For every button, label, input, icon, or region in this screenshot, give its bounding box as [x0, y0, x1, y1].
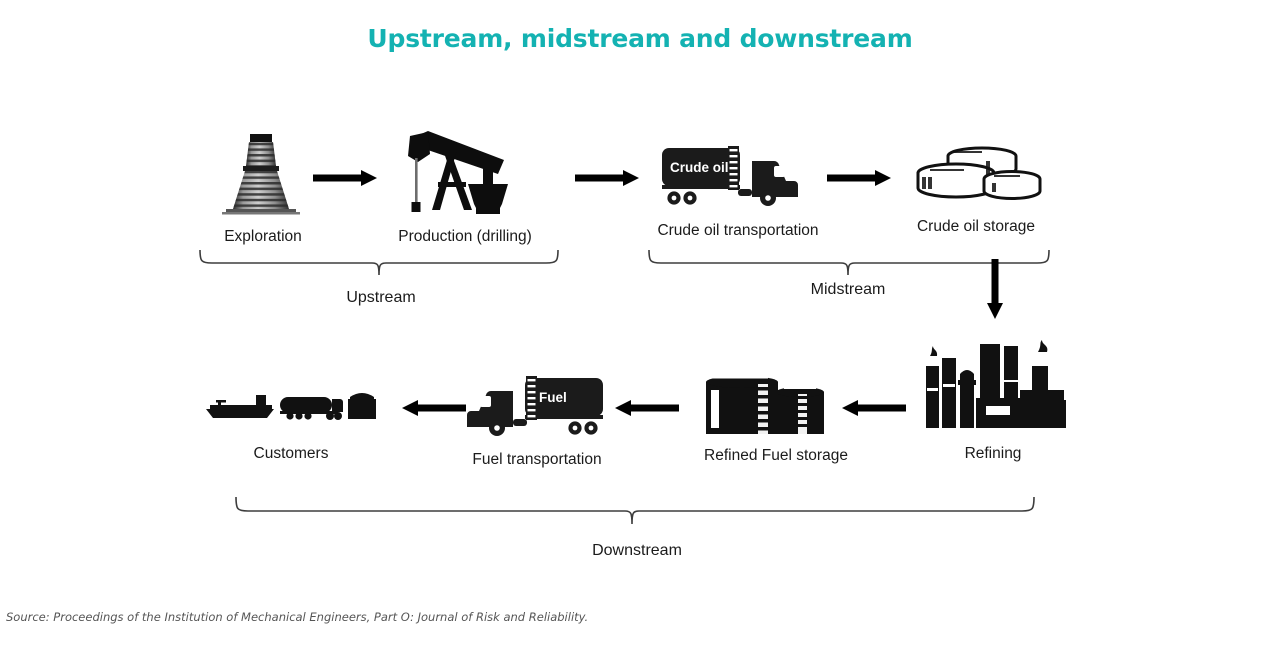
- flow-arrow-crude-transport-to-storage: [827, 167, 891, 189]
- flow-arrow-storage-to-refining: [983, 259, 1007, 319]
- flow-arrow-exploration-to-production: [313, 167, 377, 189]
- node-label-crude-storage: Crude oil storage: [896, 218, 1056, 236]
- tank-text-crude-oil: Crude oil: [670, 160, 729, 175]
- flow-arrow-refining-to-fuel-storage: [842, 397, 906, 419]
- pumpjack-icon: [398, 126, 516, 220]
- node-label-customers: Customers: [213, 445, 369, 463]
- crude-oil-storage-tanks-icon: [908, 143, 1044, 211]
- node-label-fuel-storage: Refined Fuel storage: [686, 447, 866, 465]
- stage-label-downstream: Downstream: [554, 542, 720, 560]
- node-label-production: Production (drilling): [373, 228, 557, 246]
- diagram-canvas: Upstream, midstream and downstream: [0, 0, 1280, 654]
- bracket-downstream: [232, 495, 1038, 535]
- flow-arrow-fuel-storage-to-fuel-transport: [615, 397, 679, 419]
- fuel-tanker-truck-icon: Fuel: [467, 371, 607, 444]
- oil-derrick-icon: [214, 126, 312, 220]
- flow-arrow-production-to-crude-transport: [575, 167, 639, 189]
- customers-ship-truck-tank-icon: [202, 381, 384, 425]
- node-label-refining: Refining: [913, 445, 1073, 463]
- stage-label-upstream: Upstream: [301, 289, 461, 307]
- refinery-icon: [918, 340, 1068, 438]
- stage-label-midstream: Midstream: [768, 281, 928, 299]
- page-title: Upstream, midstream and downstream: [0, 24, 1280, 53]
- node-label-crude-transport: Crude oil transportation: [638, 222, 838, 240]
- crude-oil-tanker-truck-icon: Crude oil: [658, 141, 798, 214]
- node-label-fuel-transport: Fuel transportation: [452, 451, 622, 469]
- node-label-exploration: Exploration: [181, 228, 345, 246]
- source-caption: Source: Proceedings of the Institution o…: [6, 610, 588, 624]
- refined-fuel-storage-tanks-icon: [700, 368, 832, 438]
- bracket-upstream: [196, 248, 562, 286]
- flow-arrow-fuel-transport-to-customers: [402, 397, 466, 419]
- tank-text-fuel: Fuel: [539, 390, 567, 405]
